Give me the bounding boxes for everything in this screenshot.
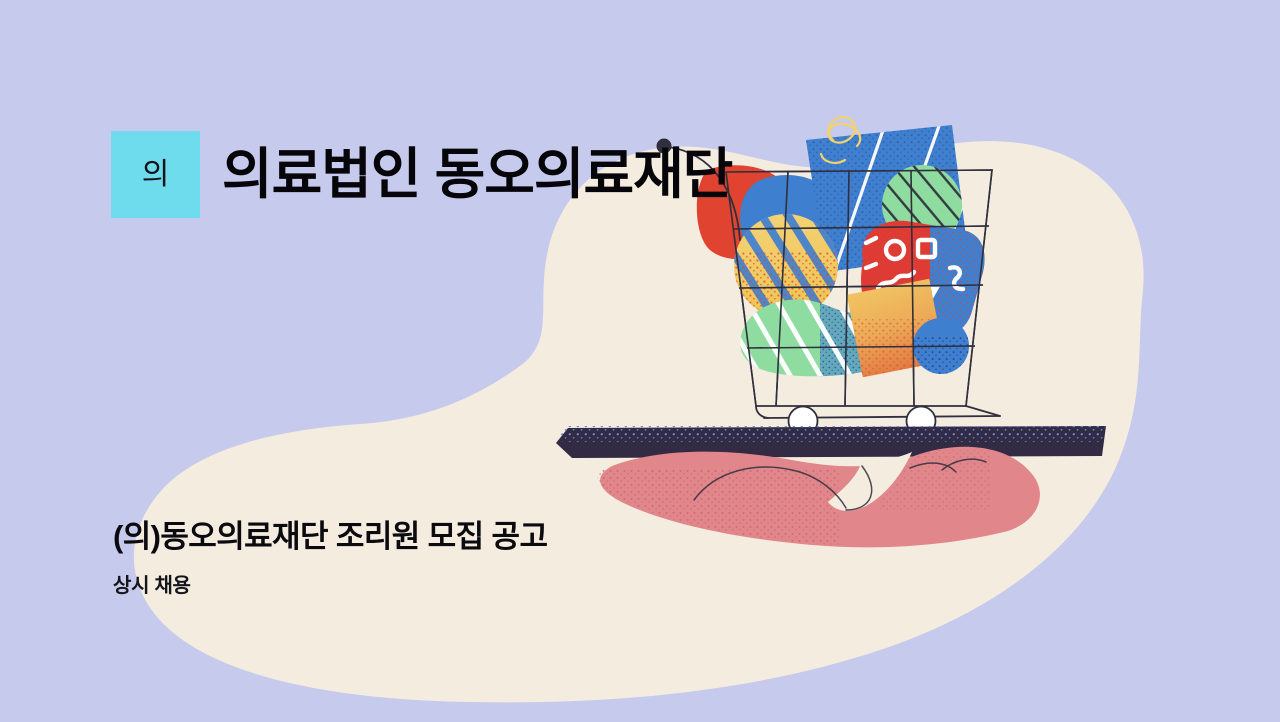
company-name: 의료법인 동오의료재단 [222,147,732,202]
employment-type-label: 상시 채용 [113,574,547,598]
company-logo: 의 [111,131,200,218]
company-header: 의 의료법인 동오의료재단 [111,131,732,218]
job-posting-title: (의)동오의료재단 조리원 모집 공고 [113,518,547,557]
company-logo-initial: 의 [142,160,170,190]
job-posting-card: 의 의료법인 동오의료재단 (의)동오의료재단 조리원 모집 공고 상시 채용 [0,0,1280,722]
shelf-bar [556,426,1116,458]
posting-summary: (의)동오의료재단 조리원 모집 공고 상시 채용 [113,518,547,598]
shopping-cart-illustration [0,0,1280,722]
